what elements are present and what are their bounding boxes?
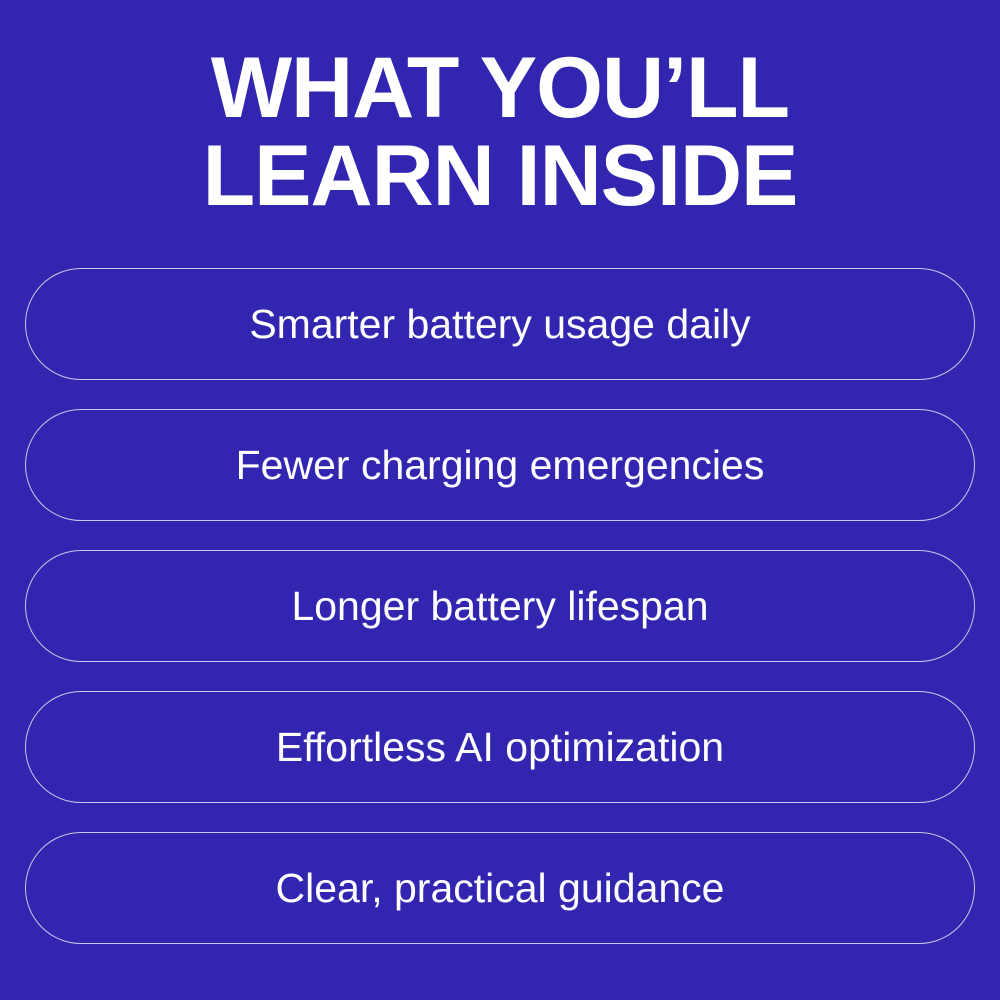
list-item-label: Fewer charging emergencies xyxy=(236,441,765,489)
page-title-line-1: WHAT YOU’LL xyxy=(0,44,1000,132)
list-item-label: Longer battery lifespan xyxy=(291,582,708,630)
list-item-label: Smarter battery usage daily xyxy=(249,300,750,348)
benefits-list: Smarter battery usage daily Fewer chargi… xyxy=(25,268,975,944)
list-item-label: Clear, practical guidance xyxy=(276,864,725,912)
list-item[interactable]: Smarter battery usage daily xyxy=(25,268,975,380)
list-item-label: Effortless AI optimization xyxy=(276,723,724,771)
slide-canvas: WHAT YOU’LL LEARN INSIDE Smarter battery… xyxy=(0,0,1000,1000)
page-title-line-2: LEARN INSIDE xyxy=(0,132,1000,220)
list-item[interactable]: Fewer charging emergencies xyxy=(25,409,975,521)
list-item[interactable]: Longer battery lifespan xyxy=(25,550,975,662)
list-item[interactable]: Clear, practical guidance xyxy=(25,832,975,944)
page-title: WHAT YOU’LL LEARN INSIDE xyxy=(0,44,1000,220)
list-item[interactable]: Effortless AI optimization xyxy=(25,691,975,803)
